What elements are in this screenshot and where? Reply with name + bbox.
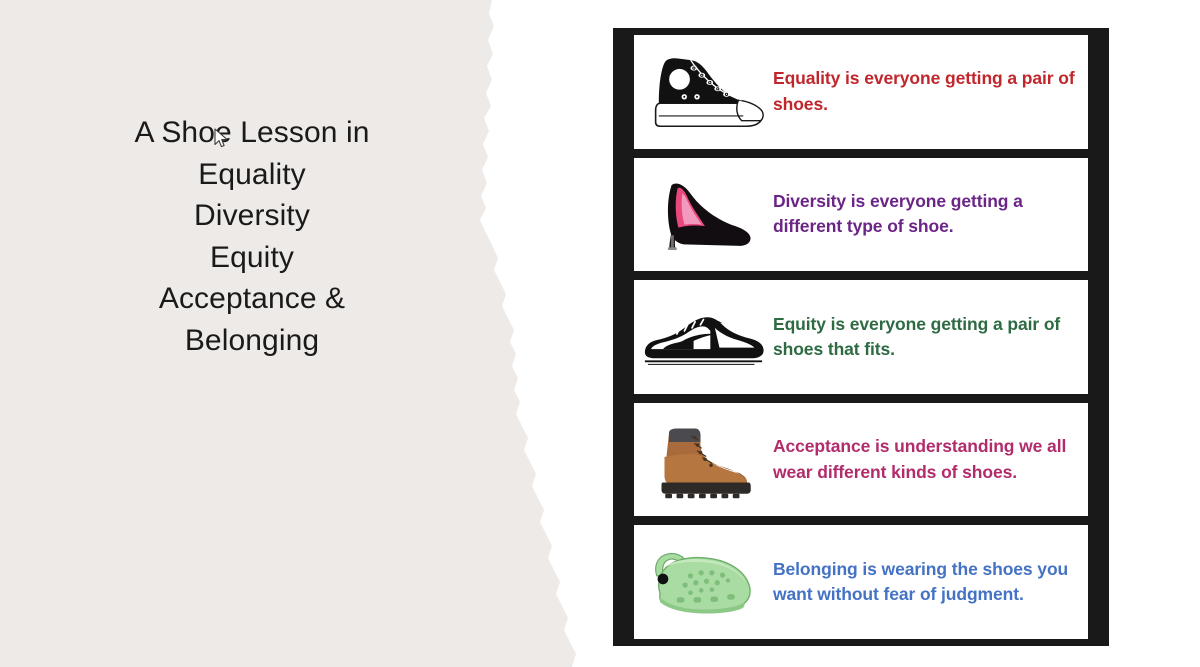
list-item: Equality is everyone getting a pair of s… bbox=[634, 35, 1088, 149]
list-item: Equity is everyone getting a pair of sho… bbox=[634, 280, 1088, 394]
green-clog-icon bbox=[638, 527, 771, 637]
list-item: Acceptance is understanding we all wear … bbox=[634, 403, 1088, 517]
list-item-label: Equity is everyone getting a pair of sho… bbox=[771, 312, 1082, 363]
list-item-label: Acceptance is understanding we all wear … bbox=[771, 434, 1082, 485]
list-item: Belonging is wearing the shoes you want … bbox=[634, 525, 1088, 639]
black-white-low-top-sneaker-icon bbox=[638, 282, 771, 392]
poster-frame: Equality is everyone getting a pair of s… bbox=[613, 28, 1109, 646]
poster-rows: Equality is everyone getting a pair of s… bbox=[634, 35, 1088, 639]
torn-paper-background bbox=[0, 0, 600, 667]
torn-edge-shape bbox=[0, 0, 576, 667]
list-item-label: Diversity is everyone getting a differen… bbox=[771, 189, 1082, 240]
list-item-label: Belonging is wearing the shoes you want … bbox=[771, 557, 1082, 608]
black-high-top-sneaker-icon bbox=[638, 37, 771, 147]
list-item: Diversity is everyone getting a differen… bbox=[634, 158, 1088, 272]
black-pink-high-heel-icon bbox=[638, 160, 771, 270]
slide-canvas: A Shoe Lesson in Equality Diversity Equi… bbox=[0, 0, 1200, 667]
brown-work-boot-icon bbox=[638, 405, 771, 515]
list-item-label: Equality is everyone getting a pair of s… bbox=[771, 66, 1082, 117]
